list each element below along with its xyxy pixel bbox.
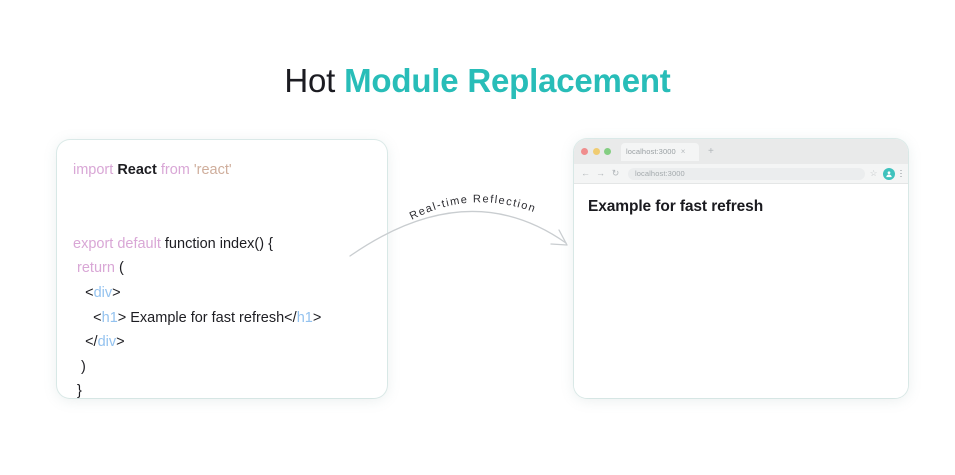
code-token-plain: ( xyxy=(115,260,124,276)
code-token-tag: h1 xyxy=(102,310,118,326)
browser-menu-kebab-icon[interactable] xyxy=(900,170,902,178)
rendered-page-heading: Example for fast refresh xyxy=(588,198,763,216)
code-token-keyword: from xyxy=(161,162,190,178)
code-token-string: 'react' xyxy=(194,162,232,178)
browser-tab-title: localhost:3000 xyxy=(626,147,676,156)
code-line: <h1> Example for fast refresh</h1> xyxy=(73,306,381,331)
code-token-punct: </ xyxy=(73,334,98,350)
user-avatar-icon[interactable] xyxy=(883,168,895,180)
code-line: return ( xyxy=(73,256,381,281)
code-line: export default function index() { xyxy=(73,232,381,257)
code-token-tag: h1 xyxy=(297,310,313,326)
code-line: ) xyxy=(73,355,381,380)
bookmark-star-icon[interactable]: ☆ xyxy=(870,169,878,178)
slide-canvas: Hot Module Replacement import React from… xyxy=(0,0,955,475)
code-token-tag: div xyxy=(94,285,113,301)
address-bar-url: localhost:3000 xyxy=(635,169,685,178)
code-token-plain: ) xyxy=(73,359,86,375)
browser-toolbar: ← → ↻ localhost:3000 ☆ xyxy=(574,164,908,184)
code-line: import React from 'react' xyxy=(73,158,381,183)
code-token-punct: < xyxy=(73,310,102,326)
browser-tab[interactable]: localhost:3000 × xyxy=(621,143,699,161)
code-token-tag: div xyxy=(98,334,117,350)
code-token-punct: > xyxy=(116,334,124,350)
code-token-keyword: import xyxy=(73,162,113,178)
browser-viewport: Example for fast refresh xyxy=(574,185,908,398)
page-title-accent: Module Replacement xyxy=(344,62,670,99)
code-line: } xyxy=(73,379,381,398)
code-token-keyword: export default xyxy=(73,236,161,252)
browser-nav-icons: ← → ↻ xyxy=(581,169,620,178)
code-token-punct: < xyxy=(73,285,94,301)
new-tab-icon[interactable]: + xyxy=(708,147,714,157)
page-title: Hot Module Replacement xyxy=(0,60,955,102)
code-line xyxy=(73,207,381,232)
browser-mockup-card: localhost:3000 × + ← → ↻ localhost:3000 … xyxy=(574,139,908,398)
arrow-label: Real-time Reflection xyxy=(408,193,538,222)
code-line: <div> xyxy=(73,281,381,306)
window-traffic-lights xyxy=(581,148,611,155)
maximize-window-dot-icon[interactable] xyxy=(604,148,611,155)
code-block: import React from 'react' export default… xyxy=(73,158,381,398)
code-token-identifier: React xyxy=(117,162,157,178)
code-token-punct: > xyxy=(112,285,120,301)
address-bar[interactable]: localhost:3000 xyxy=(628,168,865,180)
page-title-plain: Hot xyxy=(284,62,344,99)
forward-arrow-icon[interactable]: → xyxy=(596,169,605,178)
reload-icon[interactable]: ↻ xyxy=(611,169,620,178)
code-line: </div> xyxy=(73,330,381,355)
minimize-window-dot-icon[interactable] xyxy=(593,148,600,155)
close-tab-icon[interactable]: × xyxy=(681,148,686,156)
code-card: import React from 'react' export default… xyxy=(57,140,387,398)
code-line xyxy=(73,183,381,208)
arrow-head-icon xyxy=(551,230,567,245)
code-token-keyword: return xyxy=(77,260,115,276)
code-token-plain: } xyxy=(73,383,82,398)
back-arrow-icon[interactable]: ← xyxy=(581,169,590,178)
code-token-punct: > xyxy=(313,310,321,326)
code-token-punct: > Example for fast refresh</ xyxy=(118,310,297,326)
browser-tab-bar: localhost:3000 × + xyxy=(574,139,908,164)
code-token-plain: function index() { xyxy=(165,236,273,252)
close-window-dot-icon[interactable] xyxy=(581,148,588,155)
